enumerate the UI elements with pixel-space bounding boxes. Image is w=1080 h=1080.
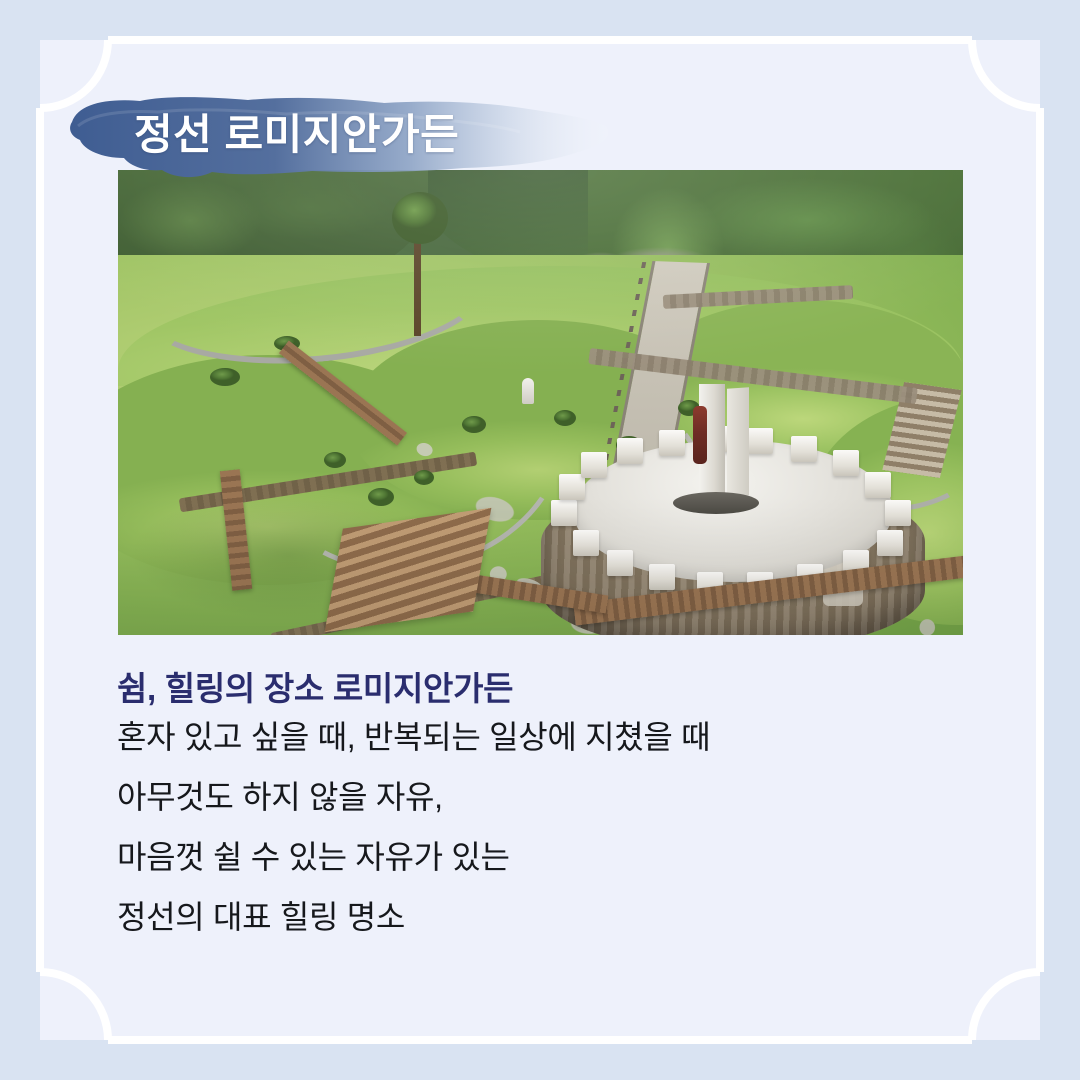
tree-crown <box>392 192 448 244</box>
garden-statue <box>522 378 534 404</box>
monolith-rear <box>727 387 749 497</box>
crenel-block <box>617 438 643 464</box>
crenel-block <box>581 452 607 478</box>
shrub <box>210 368 240 386</box>
sculpture-red-form <box>693 406 707 464</box>
crenel-block <box>747 428 773 454</box>
title-banner: 정선 로미지안가든 <box>62 92 614 180</box>
copy-line-2: 아무것도 하지 않을 자유, <box>117 781 987 813</box>
crenel-block <box>833 450 859 476</box>
banner-title: 정선 로미지안가든 <box>134 92 459 180</box>
crenel-block <box>791 436 817 462</box>
crenel-block <box>551 500 577 526</box>
copy-heading: 쉼, 힐링의 장소 로미지안가든 <box>117 666 987 713</box>
crenel-block <box>865 472 891 498</box>
crenel-block <box>885 500 911 526</box>
crenel-block <box>559 474 585 500</box>
monolith-base <box>673 492 759 514</box>
shrub <box>554 410 576 426</box>
hero-photo <box>118 170 963 635</box>
copy-block: 쉼, 힐링의 장소 로미지안가든 혼자 있고 싶을 때, 반복되는 일상에 지쳤… <box>117 666 987 933</box>
copy-line-3: 마음껏 쉴 수 있는 자유가 있는 <box>117 841 987 873</box>
shrub <box>324 452 346 468</box>
crenel-block <box>659 430 685 456</box>
copy-line-4: 정선의 대표 힐링 명소 <box>117 901 987 933</box>
crenel-block <box>607 550 633 576</box>
copy-line-1: 혼자 있고 싶을 때, 반복되는 일상에 지쳤을 때 <box>117 721 987 753</box>
photo-canvas <box>118 170 963 635</box>
promo-card: 정선 로미지안가든 쉼, 힐링의 장소 로미지안가든 혼자 있고 싶을 때, 반… <box>0 0 1080 1080</box>
crenel-block <box>573 530 599 556</box>
crenel-block <box>877 530 903 556</box>
crenel-block <box>649 564 675 590</box>
